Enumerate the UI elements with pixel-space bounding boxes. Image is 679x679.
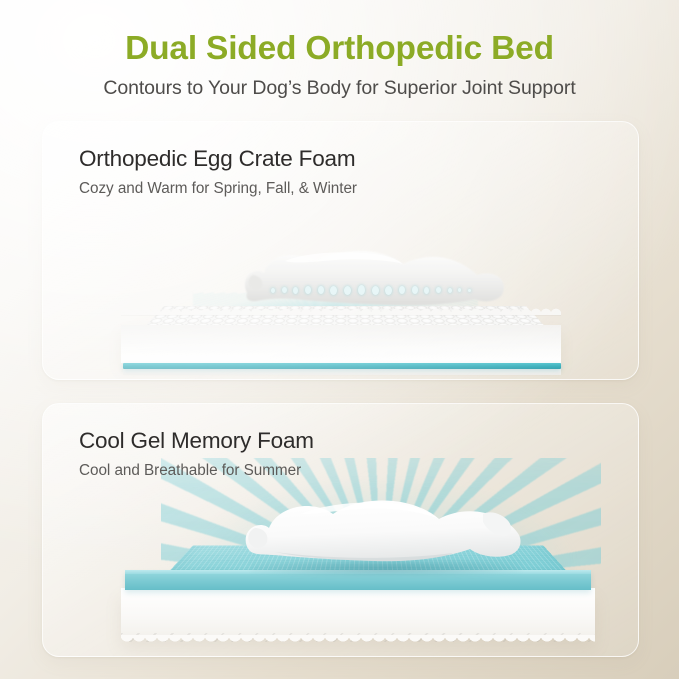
illustration-egg-crate-foam [43,203,638,380]
feature-card-egg-crate: Orthopedic Egg Crate Foam Cozy and Warm … [42,121,639,380]
spine-vertebrae-dots [271,283,471,297]
foam-base-underlayer [123,368,561,375]
foam-front-face [121,325,561,363]
card-subtitle-cool-gel: Cool and Breathable for Summer [79,455,314,480]
page-subtitle: Contours to Your Dog’s Body for Superior… [0,68,679,100]
page-title: Dual Sided Orthopedic Bed [0,0,679,68]
card-header-cool-gel: Cool Gel Memory Foam Cool and Breathable… [79,428,314,480]
dog-silhouette-egg-crate [239,241,511,313]
base-foam-zigzag-edge [121,635,595,648]
feature-card-cool-gel: Cool Gel Memory Foam Cool and Breathable… [42,403,639,657]
dog-silhouette-cool-gel [239,492,527,570]
teal-accent-stripe [123,363,561,369]
egg-crate-foam-slab [121,311,561,369]
card-subtitle-egg-crate: Cozy and Warm for Spring, Fall, & Winter [79,173,357,198]
base-foam-block [121,588,595,638]
card-title-egg-crate: Orthopedic Egg Crate Foam [79,146,357,173]
illustration-cool-gel-foam [43,457,638,657]
card-header-egg-crate: Orthopedic Egg Crate Foam Cozy and Warm … [79,146,357,198]
header: Dual Sided Orthopedic Bed Contours to Yo… [0,0,679,100]
infographic-page: Dual Sided Orthopedic Bed Contours to Yo… [0,0,679,679]
card-title-cool-gel: Cool Gel Memory Foam [79,428,314,455]
